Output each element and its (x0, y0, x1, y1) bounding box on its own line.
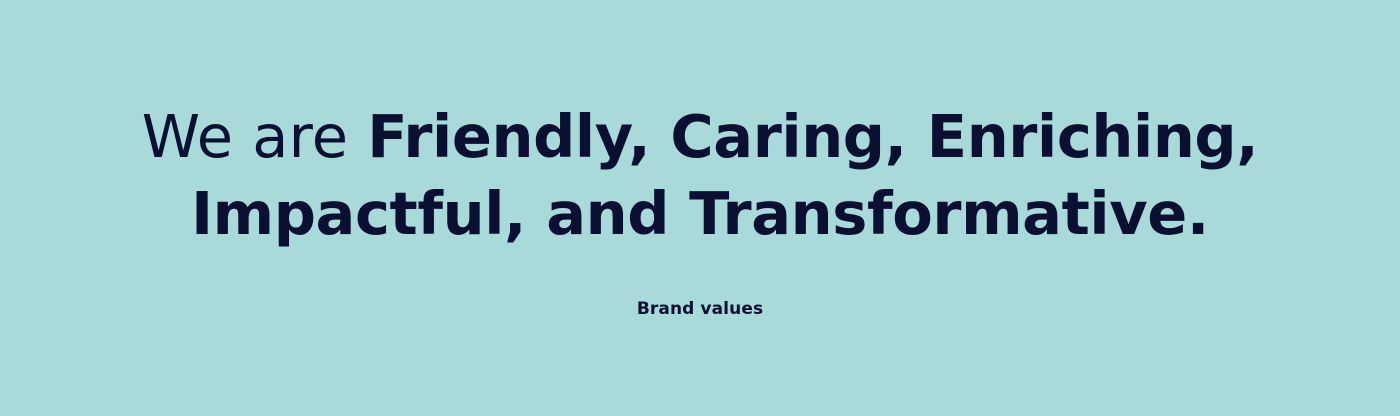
headline-lead-text: We are (142, 102, 368, 171)
brand-values-banner: We are Friendly, Caring, Enriching, Impa… (0, 0, 1400, 416)
caption-label: Brand values (0, 298, 1400, 320)
headline-values-text-line-1: Friendly, Caring, Enriching, (367, 102, 1258, 171)
headline: We are Friendly, Caring, Enriching, Impa… (0, 98, 1400, 252)
headline-line-2: Impactful, and Transformative. (0, 175, 1400, 252)
headline-line-1: We are Friendly, Caring, Enriching, (0, 98, 1400, 175)
